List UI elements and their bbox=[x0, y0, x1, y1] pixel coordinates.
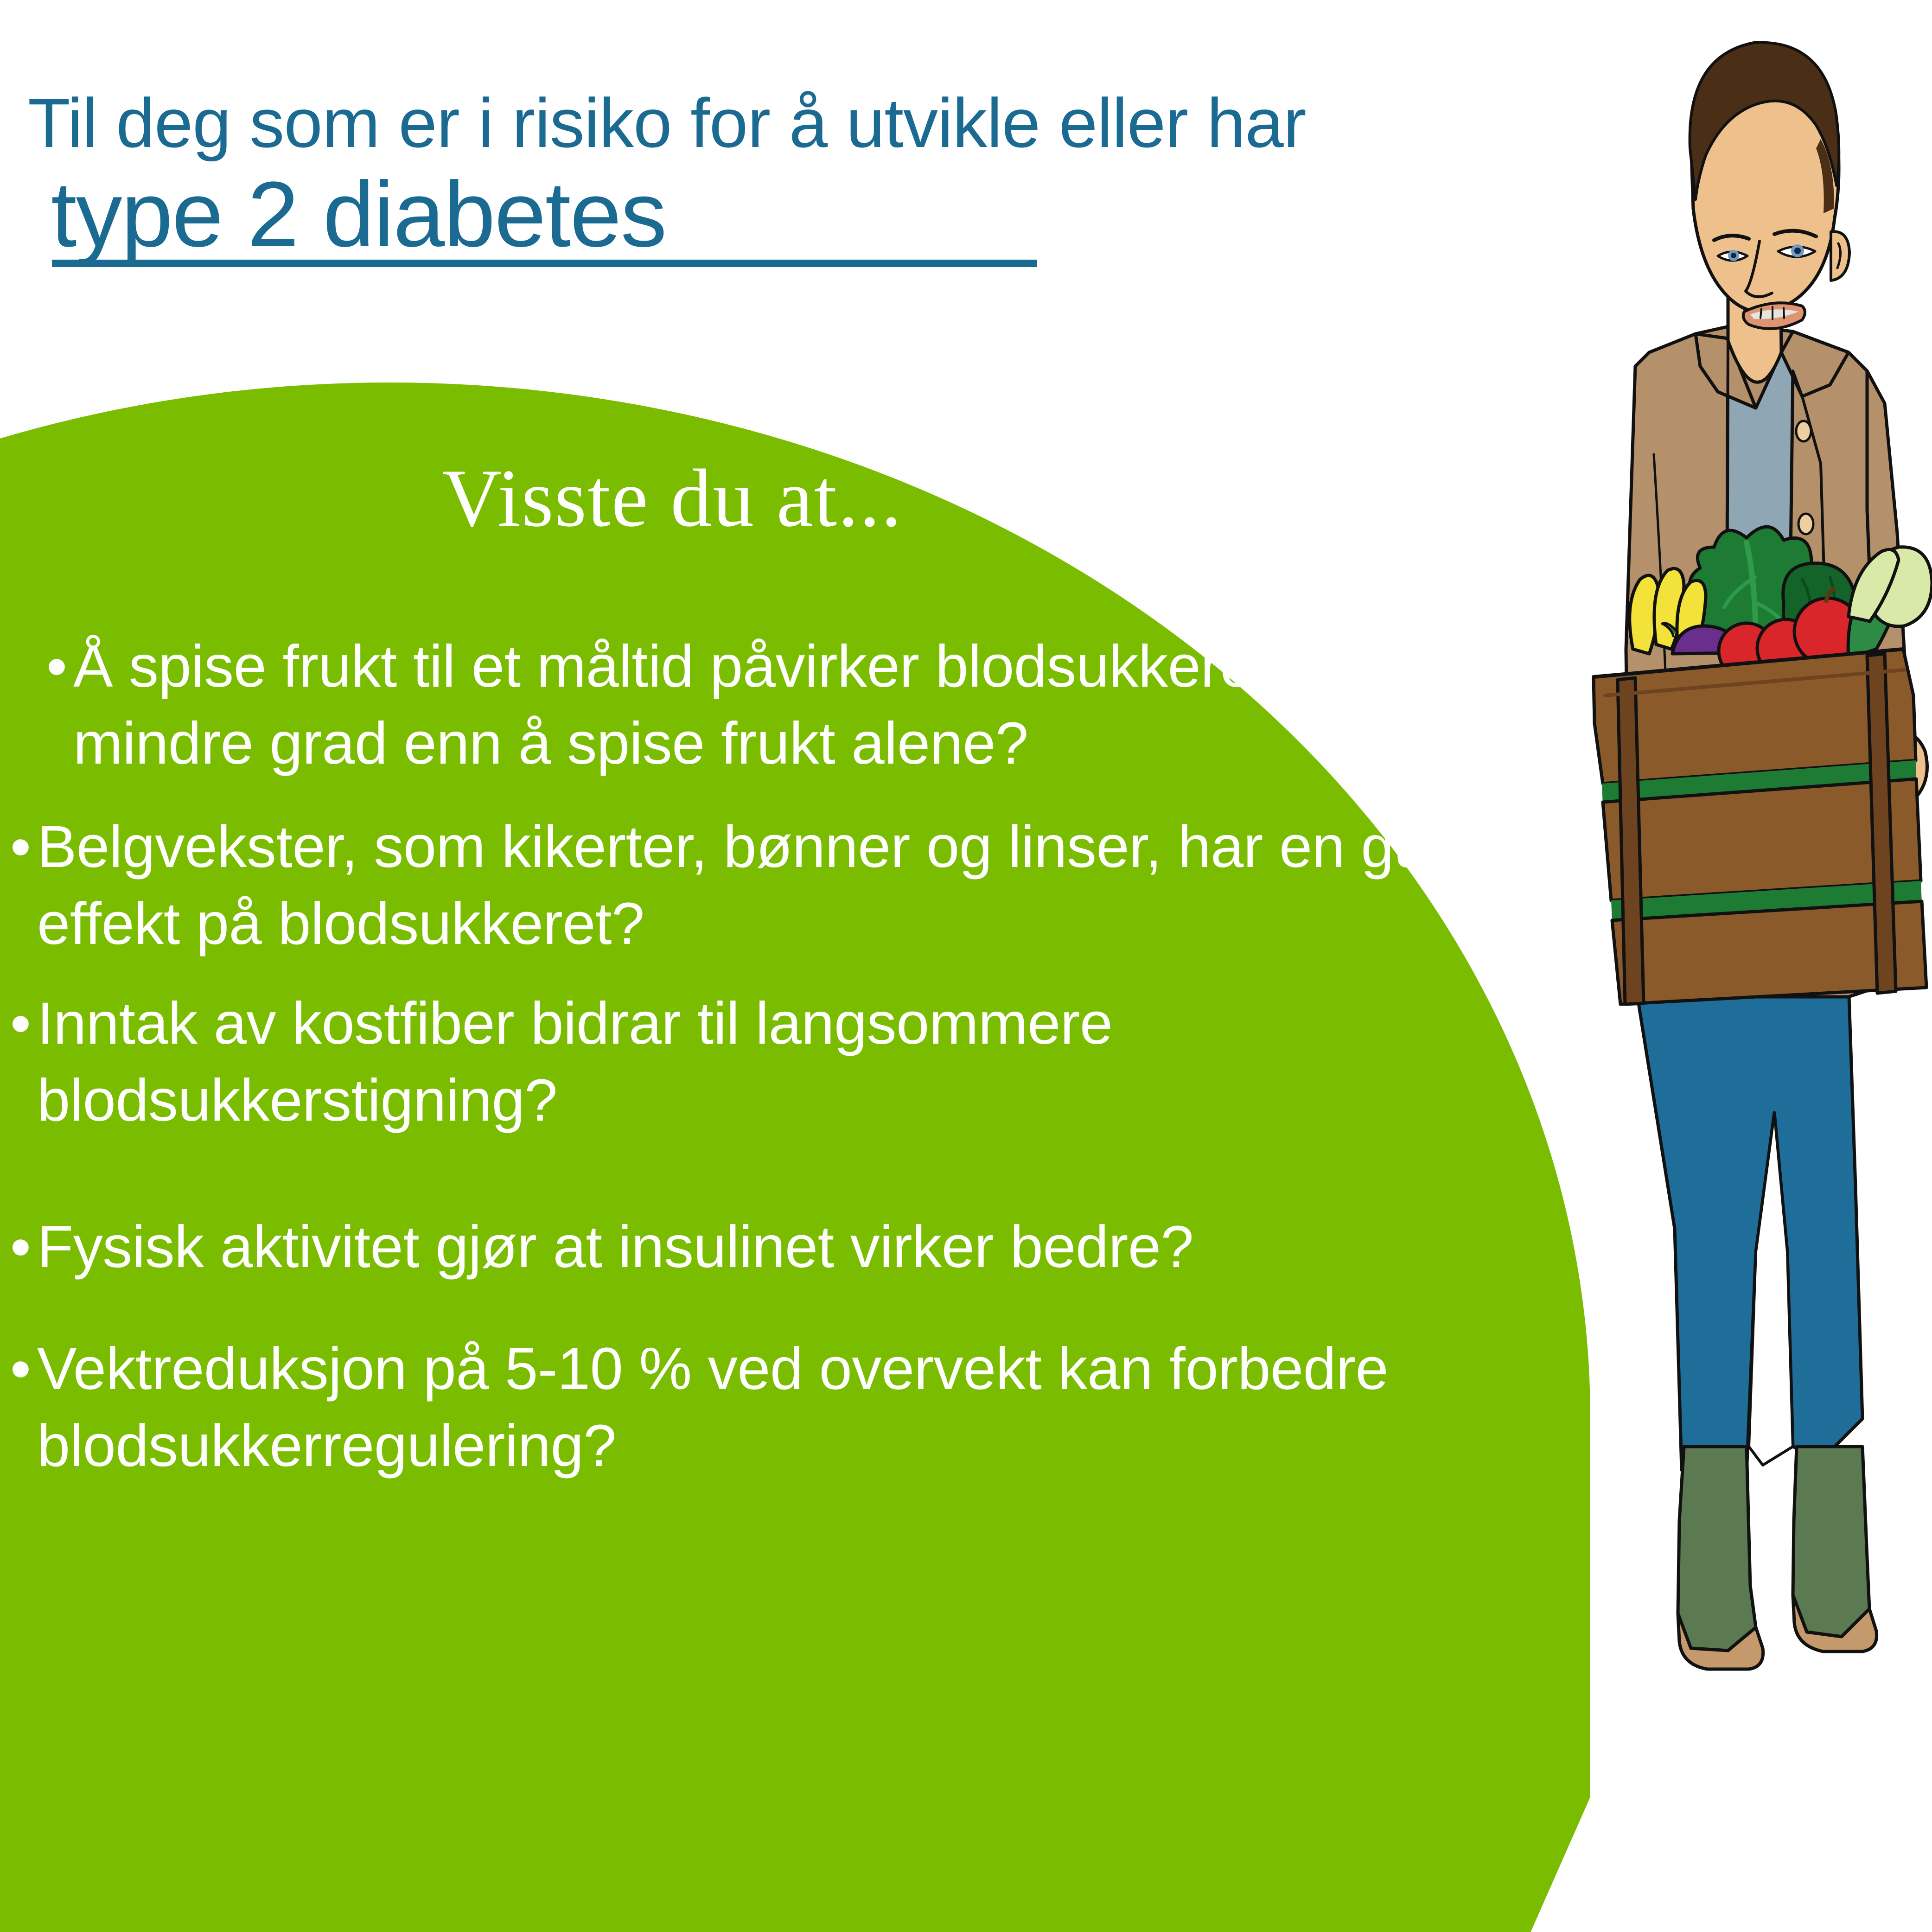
list-item-text: Vektreduksjon på 5-10 % ved overvekt kan… bbox=[37, 1331, 1567, 1485]
bullet-marker-icon: • bbox=[10, 1331, 37, 1408]
sideburn bbox=[1816, 139, 1834, 213]
bullet-marker-icon: • bbox=[46, 628, 73, 705]
poster-canvas: Til deg som er i risiko for å utvikle el… bbox=[0, 0, 1932, 1932]
nose bbox=[1746, 241, 1772, 297]
eye-left bbox=[1718, 252, 1747, 261]
jacket-button bbox=[1796, 421, 1811, 441]
bullet-marker-icon: • bbox=[10, 809, 37, 886]
page-title: Til deg som er i risiko for å utvikle el… bbox=[0, 88, 1113, 263]
jacket-button bbox=[1800, 606, 1815, 627]
neck bbox=[1728, 260, 1781, 382]
eggplant bbox=[1672, 626, 1747, 654]
headline-line-1: Til deg som er i risiko for å utvikle el… bbox=[0, 88, 1113, 158]
list-item: • Fysisk aktivitet gjør at insulinet vir… bbox=[0, 1209, 1678, 1286]
boot-right bbox=[1793, 1447, 1869, 1637]
shirt bbox=[1727, 338, 1793, 967]
leafy-green-vegetable bbox=[1690, 527, 1821, 651]
eyebrow-left bbox=[1714, 236, 1749, 240]
jacket-collar-left bbox=[1696, 334, 1756, 408]
list-item: • Å spise frukt til et måltid påvirker b… bbox=[0, 628, 1678, 783]
boot-left-sole bbox=[1678, 1613, 1763, 1669]
list-item: • Inntak av kostfiber bidrar til langsom… bbox=[0, 985, 1678, 1140]
jacket-button bbox=[1802, 699, 1817, 720]
list-item-text: Inntak av kostfiber bidrar til langsomme… bbox=[37, 985, 1558, 1140]
tomato bbox=[1757, 619, 1815, 677]
list-item-text: Belgvekster, som kikerter, bønner og lin… bbox=[37, 809, 1595, 963]
list-item: • Vektreduksjon på 5-10 % ved overvekt k… bbox=[0, 1331, 1678, 1485]
bullet-marker-icon: • bbox=[10, 985, 37, 1062]
boot-right-sole bbox=[1793, 1595, 1877, 1651]
headline-underline-rule bbox=[52, 260, 1037, 267]
ear bbox=[1831, 232, 1849, 281]
hand bbox=[1869, 730, 1927, 810]
list-item-text: Fysisk aktivitet gjør at insulinet virke… bbox=[37, 1209, 1586, 1286]
facts-list: • Å spise frukt til et måltid påvirker b… bbox=[0, 628, 1678, 1507]
jacket-button bbox=[1798, 514, 1813, 534]
tomato bbox=[1719, 623, 1774, 679]
teeth bbox=[1750, 309, 1798, 319]
cabbage-light bbox=[1867, 547, 1932, 626]
list-item-text: Å spise frukt til et måltid påvirker blo… bbox=[73, 628, 1437, 783]
mouth bbox=[1743, 303, 1805, 329]
eye-right bbox=[1778, 247, 1815, 257]
bullet-marker-icon: • bbox=[10, 1209, 37, 1286]
headline-line-2: type 2 diabetes bbox=[0, 166, 1113, 263]
cabbage-dark bbox=[1783, 563, 1857, 654]
eyebrow-right bbox=[1774, 231, 1816, 236]
pale-squash bbox=[1849, 549, 1899, 621]
boot-left bbox=[1678, 1447, 1756, 1651]
list-item: • Belgvekster, som kikerter, bønner og l… bbox=[0, 809, 1678, 963]
cucumber bbox=[1848, 569, 1905, 658]
tomato bbox=[1794, 598, 1861, 665]
crate-post bbox=[1867, 654, 1896, 993]
face bbox=[1691, 44, 1839, 312]
hair bbox=[1690, 43, 1839, 199]
banana bbox=[1677, 580, 1706, 653]
kicker-heading: Visste du at... bbox=[0, 457, 1345, 539]
jacket-sleeve-right bbox=[1867, 371, 1909, 751]
jacket-collar-right bbox=[1781, 332, 1849, 396]
